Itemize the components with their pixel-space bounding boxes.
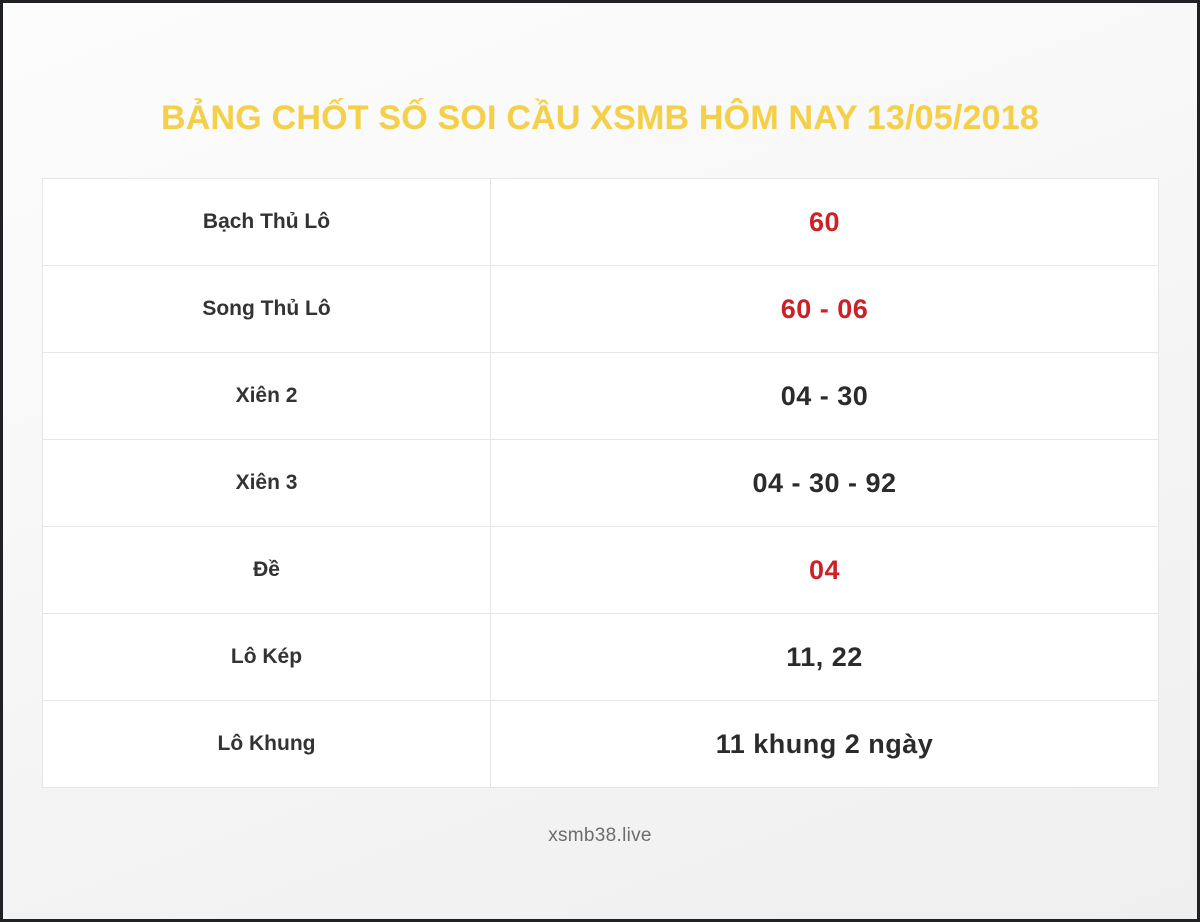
table-row: Xiên 2 04 - 30	[43, 353, 1159, 440]
table-row: Xiên 3 04 - 30 - 92	[43, 440, 1159, 527]
table-row: Lô Kép 11, 22	[43, 614, 1159, 701]
row-label-song-thu-lo: Song Thủ Lô	[43, 266, 491, 353]
table-row: Bạch Thủ Lô 60	[43, 179, 1159, 266]
row-label-xien-2: Xiên 2	[43, 353, 491, 440]
table-row: Song Thủ Lô 60 - 06	[43, 266, 1159, 353]
row-value-lo-kep: 11, 22	[491, 614, 1159, 701]
row-value-xien-2: 04 - 30	[491, 353, 1159, 440]
title-bar: BẢNG CHỐT SỐ SOI CẦU XSMB HÔM NAY 13/05/…	[3, 99, 1197, 138]
row-value-song-thu-lo: 60 - 06	[491, 266, 1159, 353]
row-label-bach-thu-lo: Bạch Thủ Lô	[43, 179, 491, 266]
row-label-de: Đề	[43, 527, 491, 614]
table-row: Đề 04	[43, 527, 1159, 614]
footer: xsmb38.live	[3, 825, 1197, 847]
row-label-lo-khung: Lô Khung	[43, 701, 491, 788]
site-watermark: xsmb38.live	[548, 825, 652, 846]
table-body: Bạch Thủ Lô 60 Song Thủ Lô 60 - 06 Xiên …	[43, 179, 1159, 788]
row-value-xien-3: 04 - 30 - 92	[491, 440, 1159, 527]
prediction-table: Bạch Thủ Lô 60 Song Thủ Lô 60 - 06 Xiên …	[42, 178, 1159, 788]
row-value-de: 04	[491, 527, 1159, 614]
row-value-bach-thu-lo: 60	[491, 179, 1159, 266]
row-label-xien-3: Xiên 3	[43, 440, 491, 527]
page-title: BẢNG CHỐT SỐ SOI CẦU XSMB HÔM NAY 13/05/…	[161, 99, 1039, 138]
row-label-lo-kep: Lô Kép	[43, 614, 491, 701]
table-row: Lô Khung 11 khung 2 ngày	[43, 701, 1159, 788]
row-value-lo-khung: 11 khung 2 ngày	[491, 701, 1159, 788]
page-canvas: BẢNG CHỐT SỐ SOI CẦU XSMB HÔM NAY 13/05/…	[3, 3, 1197, 919]
